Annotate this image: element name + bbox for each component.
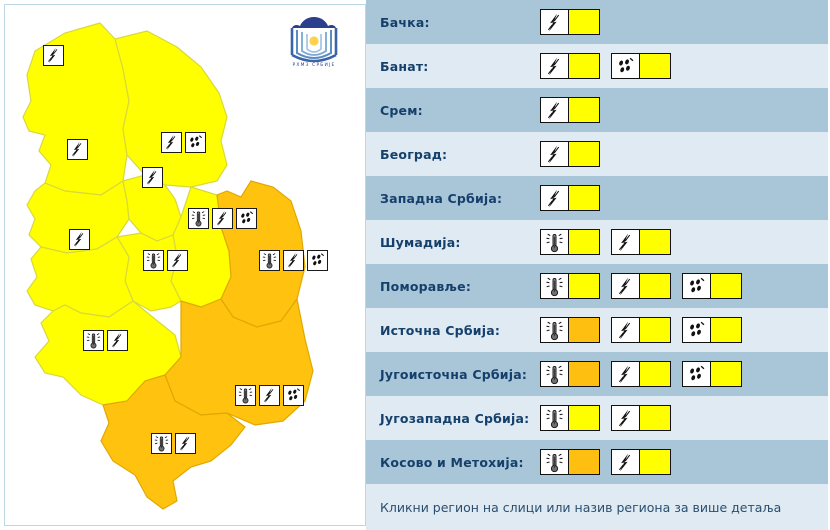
warning-badge[interactable] <box>611 405 671 431</box>
map-thermometer-icon[interactable] <box>188 208 209 229</box>
map-area-backa[interactable] <box>23 23 129 195</box>
warning-badge[interactable] <box>540 185 600 211</box>
map-thermometer-icon[interactable] <box>143 250 164 271</box>
region-name-link[interactable]: Југозападна Србија: <box>380 411 540 426</box>
severity-level-yellow <box>569 186 599 210</box>
warning-badges <box>540 97 600 123</box>
region-row[interactable]: Срем: <box>366 88 828 132</box>
map-thermometer-icon[interactable] <box>83 330 104 351</box>
map-thermometer-icon[interactable] <box>235 385 256 406</box>
severity-level-yellow <box>711 318 741 342</box>
region-name-link[interactable]: Косово и Метохија: <box>380 455 540 470</box>
map-lightning-icon[interactable] <box>259 385 280 406</box>
warning-badge[interactable] <box>540 449 600 475</box>
region-row[interactable]: Београд: <box>366 132 828 176</box>
warning-badge[interactable] <box>540 53 600 79</box>
weather-warning-page: РХМЗ СРБИЈЕ Бачка:Банат:Срем:Београд:Зап… <box>0 0 830 530</box>
thermometer-icon <box>541 406 569 430</box>
severity-level-yellow <box>711 362 741 386</box>
map-hail-icon[interactable] <box>307 250 328 271</box>
severity-level-yellow <box>569 54 599 78</box>
warning-badge[interactable] <box>540 405 600 431</box>
region-row[interactable]: Југозападна Србија: <box>366 396 828 440</box>
region-row[interactable]: Југоисточна Србија: <box>366 352 828 396</box>
rhmz-logo: РХМЗ СРБИЈЕ <box>271 11 357 73</box>
warning-badge[interactable] <box>611 361 671 387</box>
lightning-icon <box>541 186 569 210</box>
map-lightning-icon[interactable] <box>69 229 90 250</box>
severity-level-yellow <box>569 406 599 430</box>
severity-level-yellow <box>640 54 670 78</box>
map-lightning-icon[interactable] <box>161 132 182 153</box>
lightning-icon <box>612 274 640 298</box>
map-lightning-icon[interactable] <box>142 167 163 188</box>
thermometer-icon <box>541 362 569 386</box>
warning-badge[interactable] <box>611 229 671 255</box>
severity-level-yellow <box>640 450 670 474</box>
severity-level-orange <box>569 450 599 474</box>
warning-badge[interactable] <box>540 141 600 167</box>
map-lightning-icon[interactable] <box>167 250 188 271</box>
warning-badges <box>540 9 600 35</box>
warning-badge[interactable] <box>611 53 671 79</box>
region-rows: Бачка:Банат:Срем:Београд:Западна Србија:… <box>366 0 828 484</box>
warning-badges <box>540 185 600 211</box>
hail-icon <box>683 362 711 386</box>
map-hail-icon[interactable] <box>283 385 304 406</box>
warning-badges <box>540 449 671 475</box>
region-name-link[interactable]: Западна Србија: <box>380 191 540 206</box>
severity-level-yellow <box>640 318 670 342</box>
region-row[interactable]: Банат: <box>366 44 828 88</box>
warning-badges <box>540 317 742 343</box>
region-name-link[interactable]: Поморавље: <box>380 279 540 294</box>
region-row[interactable]: Косово и Метохија: <box>366 440 828 484</box>
hail-icon <box>612 54 640 78</box>
lightning-icon <box>541 98 569 122</box>
lightning-icon <box>541 142 569 166</box>
region-row[interactable]: Западна Србија: <box>366 176 828 220</box>
warning-badge[interactable] <box>611 449 671 475</box>
warning-badge[interactable] <box>540 317 600 343</box>
severity-level-yellow <box>640 406 670 430</box>
warning-badge[interactable] <box>682 273 742 299</box>
region-name-link[interactable]: Шумадија: <box>380 235 540 250</box>
region-row[interactable]: Бачка: <box>366 0 828 44</box>
region-name-link[interactable]: Београд: <box>380 147 540 162</box>
lightning-icon <box>612 450 640 474</box>
severity-level-yellow <box>569 98 599 122</box>
region-row[interactable]: Шумадија: <box>366 220 828 264</box>
footer-hint: Кликни регион на слици или назив региона… <box>366 484 828 530</box>
region-name-link[interactable]: Југоисточна Србија: <box>380 367 540 382</box>
warning-badges <box>540 405 671 431</box>
warning-badge[interactable] <box>611 317 671 343</box>
hail-icon <box>683 274 711 298</box>
region-name-link[interactable]: Банат: <box>380 59 540 74</box>
warning-badges <box>540 361 742 387</box>
lightning-icon <box>612 318 640 342</box>
severity-level-yellow <box>569 142 599 166</box>
warning-badge[interactable] <box>540 361 600 387</box>
warning-badge[interactable] <box>540 97 600 123</box>
warning-badges <box>540 229 671 255</box>
map-lightning-icon[interactable] <box>175 433 196 454</box>
lightning-icon <box>541 54 569 78</box>
thermometer-icon <box>541 230 569 254</box>
map-lightning-icon[interactable] <box>107 330 128 351</box>
lightning-icon <box>541 10 569 34</box>
map-hail-icon[interactable] <box>185 132 206 153</box>
region-name-link[interactable]: Источна Србија: <box>380 323 540 338</box>
logo-caption: РХМЗ СРБИЈЕ <box>293 62 336 68</box>
hail-icon <box>683 318 711 342</box>
warning-badge[interactable] <box>682 317 742 343</box>
severity-level-yellow <box>640 230 670 254</box>
map-area-banat[interactable] <box>115 31 227 187</box>
region-row[interactable]: Поморавље: <box>366 264 828 308</box>
warning-badges <box>540 141 600 167</box>
region-name-link[interactable]: Бачка: <box>380 15 540 30</box>
warning-badge[interactable] <box>540 229 600 255</box>
warning-badge[interactable] <box>540 9 600 35</box>
severity-level-yellow <box>640 274 670 298</box>
thermometer-icon <box>541 318 569 342</box>
map-thermometer-icon[interactable] <box>259 250 280 271</box>
severity-level-orange <box>569 318 599 342</box>
lightning-icon <box>612 362 640 386</box>
region-name-link[interactable]: Срем: <box>380 103 540 118</box>
map-thermometer-icon[interactable] <box>151 433 172 454</box>
warning-badges <box>540 273 742 299</box>
map-hail-icon[interactable] <box>236 208 257 229</box>
region-warning-list: Бачка:Банат:Срем:Београд:Западна Србија:… <box>366 0 828 530</box>
severity-level-yellow <box>711 274 741 298</box>
warning-badge[interactable] <box>682 361 742 387</box>
lightning-icon <box>612 406 640 430</box>
warning-badge[interactable] <box>540 273 600 299</box>
severity-level-yellow <box>569 274 599 298</box>
thermometer-icon <box>541 274 569 298</box>
warning-badges <box>540 53 671 79</box>
severity-level-yellow <box>640 362 670 386</box>
region-row[interactable]: Источна Србија: <box>366 308 828 352</box>
map-lightning-icon[interactable] <box>43 45 64 66</box>
map-panel: РХМЗ СРБИЈЕ <box>4 4 366 526</box>
severity-level-yellow <box>569 230 599 254</box>
severity-level-yellow <box>569 10 599 34</box>
map-lightning-icon[interactable] <box>212 208 233 229</box>
footer-hint-text: Кликни регион на слици или назив региона… <box>380 500 781 515</box>
thermometer-icon <box>541 450 569 474</box>
warning-badge[interactable] <box>611 273 671 299</box>
severity-level-orange <box>569 362 599 386</box>
map-lightning-icon[interactable] <box>283 250 304 271</box>
map-lightning-icon[interactable] <box>67 139 88 160</box>
lightning-icon <box>612 230 640 254</box>
